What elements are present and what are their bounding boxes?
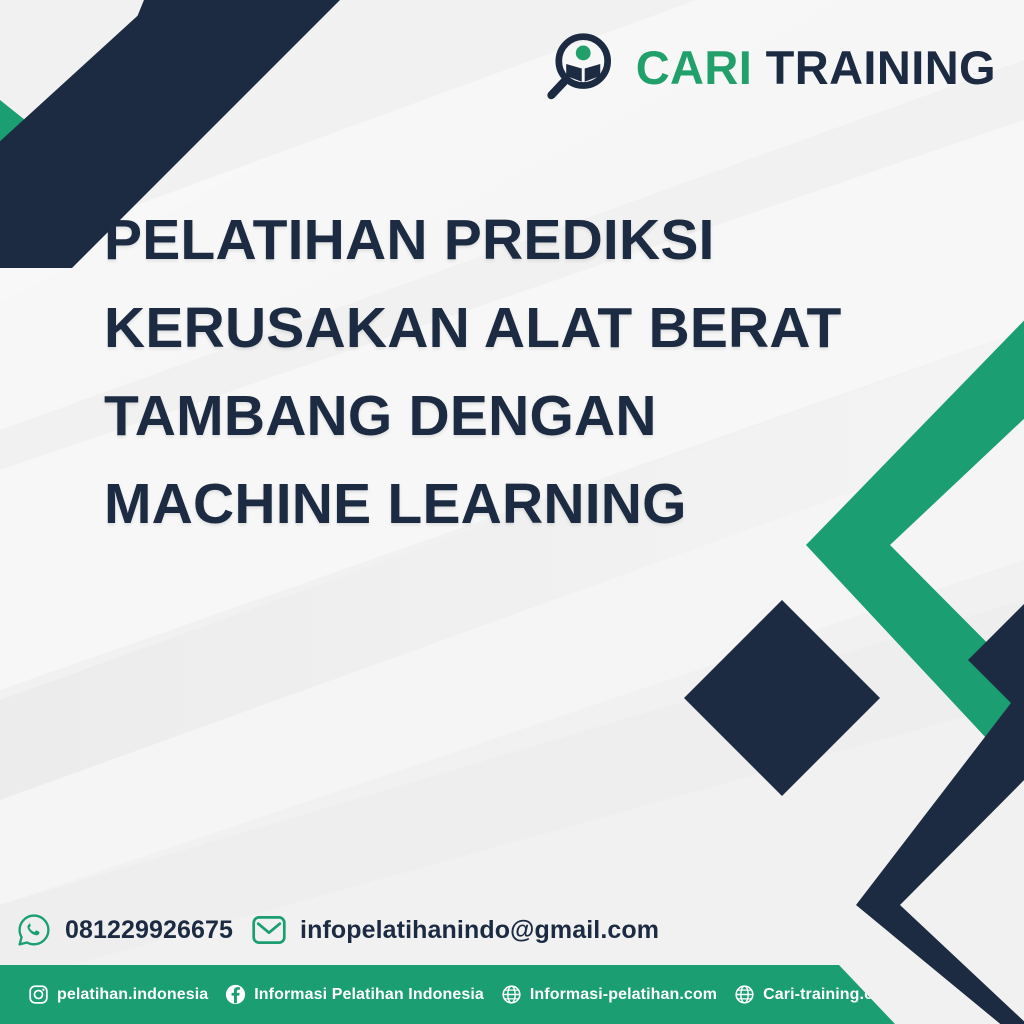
footer-item-instagram[interactable]: pelatihan.indonesia xyxy=(28,984,208,1005)
whatsapp-icon xyxy=(16,912,52,948)
globe-icon xyxy=(501,984,522,1005)
title-line-4: MACHINE LEARNING xyxy=(104,460,924,548)
email-icon xyxy=(251,912,287,948)
email-address: infopelatihanindo@gmail.com xyxy=(300,916,659,945)
logo-wordmark: CARI TRAINING xyxy=(636,44,996,91)
logo-word-training: TRAINING xyxy=(766,41,996,94)
contact-phone[interactable]: 081229926675 xyxy=(16,912,233,948)
globe-icon xyxy=(734,984,755,1005)
poster-title: PELATIHAN PREDIKSI KERUSAKAN ALAT BERAT … xyxy=(104,196,924,548)
footer-social-bar: pelatihan.indonesia Informasi Pelatihan … xyxy=(0,965,895,1024)
footer-label-instagram: pelatihan.indonesia xyxy=(57,986,208,1004)
footer-item-facebook[interactable]: Informasi Pelatihan Indonesia xyxy=(225,984,484,1005)
contact-row: 081229926675 infopelatihanindo@gmail.com xyxy=(16,908,659,952)
poster-canvas: CARI TRAINING PELATIHAN PREDIKSI KERUSAK… xyxy=(0,0,1024,1024)
logo-word-cari: CARI xyxy=(636,41,752,94)
contact-email[interactable]: infopelatihanindo@gmail.com xyxy=(251,912,659,948)
footer-items: pelatihan.indonesia Informasi Pelatihan … xyxy=(28,984,897,1005)
footer-item-website-2[interactable]: Cari-training.com xyxy=(734,984,897,1005)
title-line-3: TAMBANG DENGAN xyxy=(104,372,924,460)
title-line-1: PELATIHAN PREDIKSI xyxy=(104,196,924,284)
brand-logo[interactable]: CARI TRAINING xyxy=(544,30,996,104)
navy-chevron-lower xyxy=(856,660,1024,1024)
navy-diamond xyxy=(684,600,880,796)
footer-label-website-1: Informasi-pelatihan.com xyxy=(530,986,717,1004)
instagram-icon xyxy=(28,984,49,1005)
title-line-2: KERUSAKAN ALAT BERAT xyxy=(104,284,924,372)
footer-label-facebook: Informasi Pelatihan Indonesia xyxy=(254,986,484,1004)
facebook-icon xyxy=(225,984,246,1005)
navy-sliver-corner xyxy=(968,604,1024,716)
green-triangle-left xyxy=(0,52,90,300)
magnifier-book-logo-icon xyxy=(544,30,618,104)
footer-label-website-2: Cari-training.com xyxy=(763,986,897,1004)
footer-item-website-1[interactable]: Informasi-pelatihan.com xyxy=(501,984,717,1005)
phone-number: 081229926675 xyxy=(65,916,233,945)
